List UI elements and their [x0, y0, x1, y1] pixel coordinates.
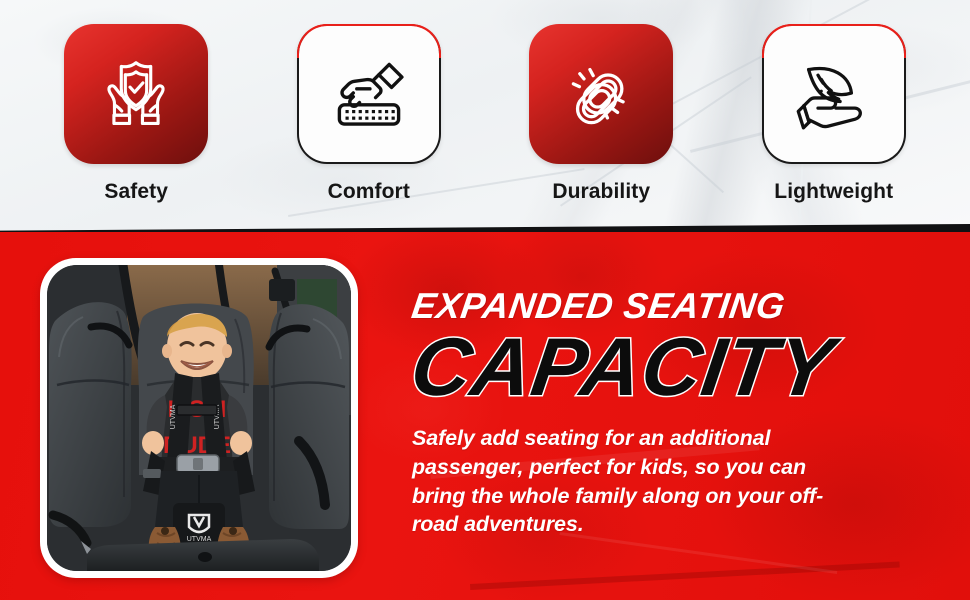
feature-item-durability: Durability — [501, 24, 701, 202]
feather-on-hand-icon — [787, 47, 881, 141]
features-section: Safety — [0, 0, 970, 232]
feature-item-safety: Safety — [36, 24, 236, 202]
product-feature-banner: Safety — [0, 0, 970, 600]
feature-list: Safety — [0, 0, 970, 232]
hand-pressing-cushion-icon — [322, 47, 416, 141]
background-shard — [470, 561, 900, 589]
chain-link-icon — [555, 48, 647, 140]
feature-label: Durability — [552, 181, 650, 202]
feature-tile-lightweight — [762, 24, 906, 164]
feature-tile-comfort — [297, 24, 441, 164]
promo-body-text: Safely add seating for an additional pas… — [412, 424, 864, 538]
feature-label: Safety — [104, 181, 168, 202]
feature-label: Comfort — [328, 181, 410, 202]
child-in-utv-seat-illustration: MOM DUDE UTVMA UTVMA — [47, 265, 351, 571]
feature-tile-durability — [529, 24, 673, 164]
hands-holding-shield-icon — [90, 48, 182, 140]
feature-item-lightweight: Lightweight — [734, 24, 934, 202]
feature-tile-safety — [64, 24, 208, 164]
feature-item-comfort: Comfort — [269, 24, 469, 202]
promo-photo-card: MOM DUDE UTVMA UTVMA — [40, 258, 358, 578]
promo-kicker: EXPANDED SEATING — [409, 288, 954, 324]
promo-photo: MOM DUDE UTVMA UTVMA — [47, 265, 351, 571]
feature-label: Lightweight — [774, 181, 893, 202]
promo-headline: CAPACITY — [406, 328, 957, 408]
promo-copy: EXPANDED SEATING CAPACITY Safely add sea… — [412, 288, 952, 539]
svg-text:UTVMA: UTVMA — [170, 404, 177, 429]
